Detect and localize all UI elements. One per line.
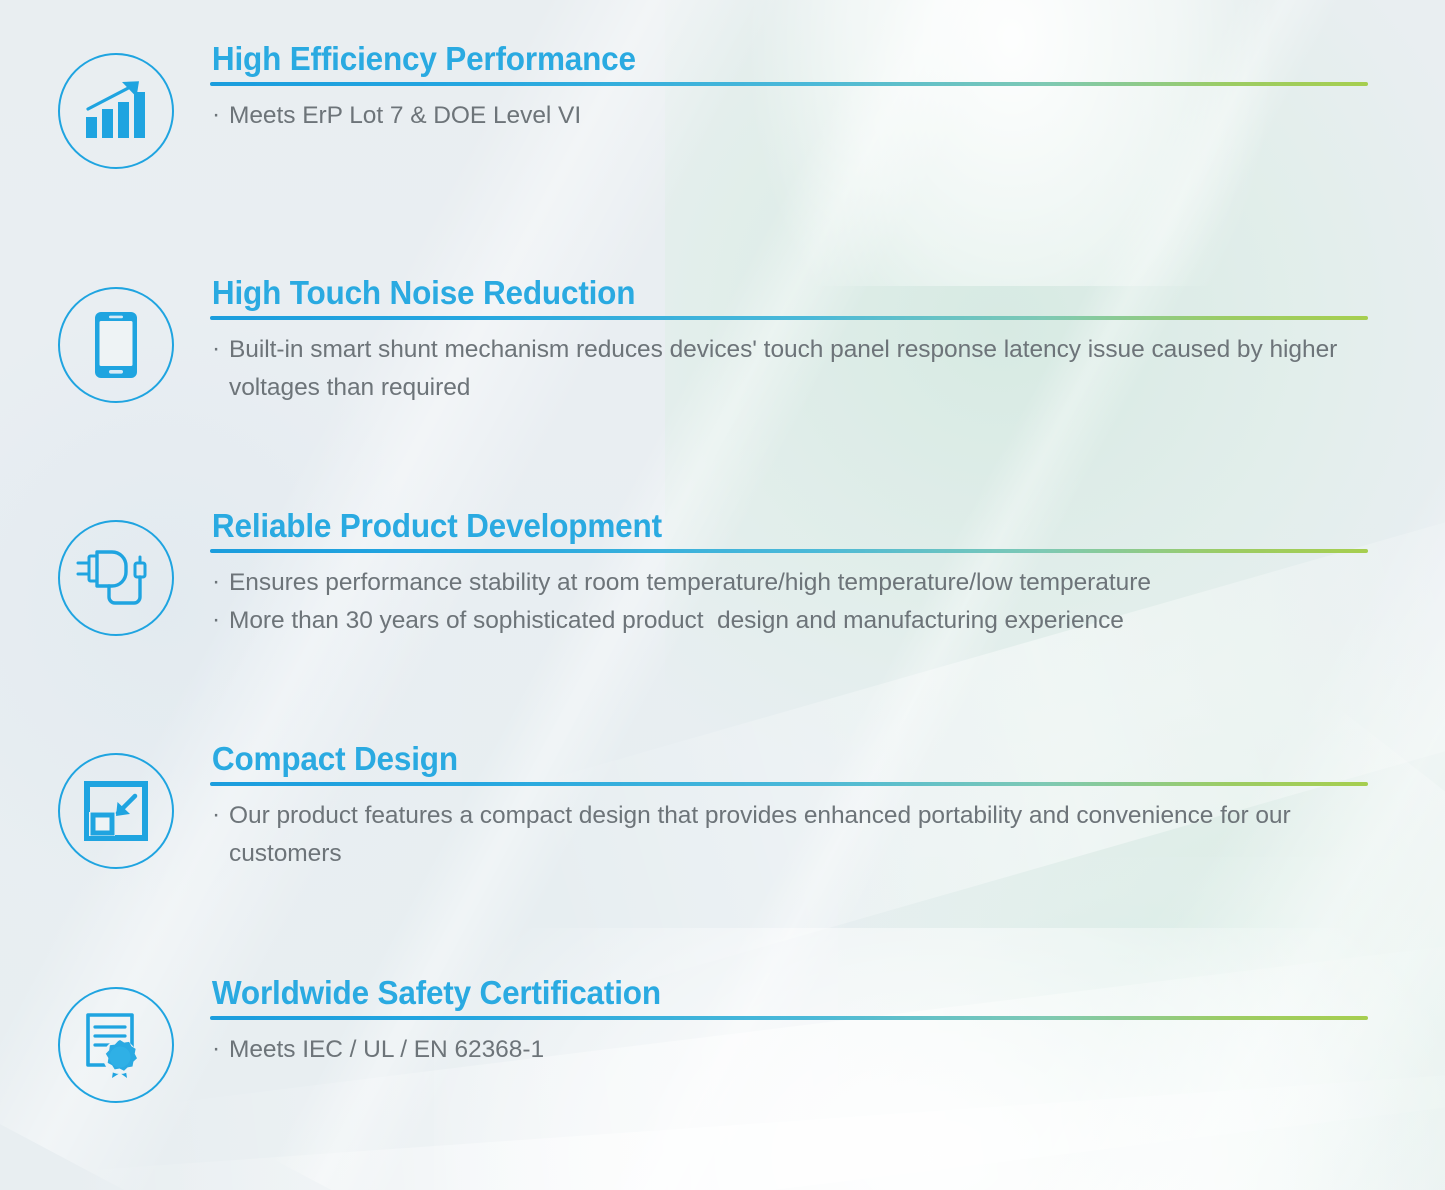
smartphone-icon — [58, 287, 174, 403]
feature-bullets: Our product features a compact design th… — [210, 786, 1370, 873]
feature-body: High Touch Noise Reduction Built-in smar… — [210, 274, 1370, 407]
certificate-seal-icon — [58, 987, 174, 1103]
feature-icon-wrapper — [57, 740, 175, 882]
feature-title: Compact Design — [210, 740, 1318, 782]
feature-title: Worldwide Safety Certification — [210, 974, 1318, 1016]
feature-bullet: Meets ErP Lot 7 & DOE Level VI — [210, 97, 1370, 135]
feature-bullets: Ensures performance stability at room te… — [210, 553, 1370, 640]
feature-bullets: Meets IEC / UL / EN 62368-1 — [210, 1020, 1370, 1069]
features-list: High Efficiency Performance Meets ErP Lo… — [0, 0, 1445, 1190]
compact-resize-icon — [58, 753, 174, 869]
feature-bullet: More than 30 years of sophisticated prod… — [210, 602, 1370, 640]
feature-bullet: Our product features a compact design th… — [210, 797, 1370, 873]
feature-body: High Efficiency Performance Meets ErP Lo… — [210, 40, 1370, 135]
feature-title: High Touch Noise Reduction — [210, 274, 1318, 316]
feature-icon-wrapper — [57, 507, 175, 649]
feature-title: High Efficiency Performance — [210, 40, 1318, 82]
feature-icon-wrapper — [57, 40, 175, 182]
feature-bullet: Meets IEC / UL / EN 62368-1 — [210, 1031, 1370, 1069]
feature-body: Compact Design Our product features a co… — [210, 740, 1370, 873]
bar-chart-growth-icon — [58, 53, 174, 169]
feature-body: Reliable Product Development Ensures per… — [210, 507, 1370, 640]
power-adapter-icon — [58, 520, 174, 636]
feature-bullets: Meets ErP Lot 7 & DOE Level VI — [210, 86, 1370, 135]
feature-highlights-page: High Efficiency Performance Meets ErP Lo… — [0, 0, 1445, 1190]
feature-bullet: Ensures performance stability at room te… — [210, 564, 1370, 602]
feature-title: Reliable Product Development — [210, 507, 1318, 549]
feature-bullet: Built-in smart shunt mechanism reduces d… — [210, 331, 1370, 407]
feature-bullets: Built-in smart shunt mechanism reduces d… — [210, 320, 1370, 407]
feature-body: Worldwide Safety Certification Meets IEC… — [210, 974, 1370, 1069]
feature-icon-wrapper — [57, 274, 175, 416]
feature-icon-wrapper — [57, 974, 175, 1116]
